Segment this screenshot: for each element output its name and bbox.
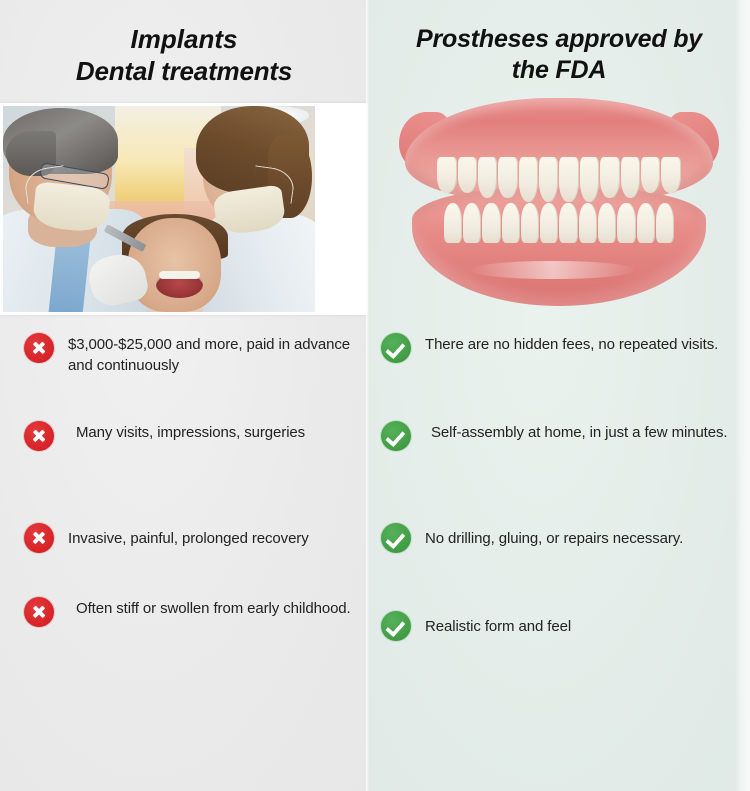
list-item: Realistic form and feel bbox=[381, 597, 740, 655]
tooth bbox=[656, 203, 674, 243]
check-icon bbox=[381, 421, 411, 451]
denture-lower-teeth bbox=[444, 200, 674, 243]
tooth bbox=[437, 157, 456, 193]
cross-icon bbox=[24, 523, 54, 553]
column-implants: Implants Dental treatments bbox=[0, 0, 368, 791]
denture-upper-teeth bbox=[437, 157, 680, 202]
left-column-heading: Implants Dental treatments bbox=[0, 0, 368, 87]
tooth bbox=[521, 203, 539, 243]
tooth bbox=[600, 157, 619, 199]
left-heading-line-1: Implants bbox=[28, 24, 340, 56]
list-item-label: No drilling, gluing, or repairs necessar… bbox=[411, 527, 683, 549]
check-icon bbox=[381, 523, 411, 553]
tooth bbox=[502, 203, 520, 243]
denture-photo bbox=[399, 89, 719, 315]
column-prostheses: Prostheses approved by the FDA bbox=[368, 0, 750, 791]
tooth bbox=[519, 157, 538, 202]
tooth bbox=[458, 157, 477, 193]
right-heading-line-2: the FDA bbox=[406, 55, 712, 86]
tooth bbox=[641, 157, 660, 193]
tooth bbox=[580, 157, 599, 202]
tooth bbox=[444, 203, 462, 243]
list-item-label: There are no hidden fees, no repeated vi… bbox=[411, 333, 718, 355]
list-item: There are no hidden fees, no repeated vi… bbox=[381, 333, 740, 391]
list-item-label: Self-assembly at home, in just a few min… bbox=[411, 421, 727, 443]
list-item-label: Often stiff or swollen from early childh… bbox=[54, 597, 351, 619]
left-heading-line-2: Dental treatments bbox=[28, 56, 340, 88]
right-bullet-list: There are no hidden fees, no repeated vi… bbox=[368, 333, 750, 655]
list-item: Often stiff or swollen from early childh… bbox=[24, 597, 352, 655]
list-item: Self-assembly at home, in just a few min… bbox=[381, 421, 740, 479]
denture-highlight bbox=[469, 261, 635, 279]
tooth bbox=[482, 203, 500, 243]
list-item: No drilling, gluing, or repairs necessar… bbox=[381, 509, 740, 567]
clinic-photo bbox=[3, 106, 315, 312]
list-item: Many visits, impressions, surgeries bbox=[24, 421, 352, 479]
check-icon bbox=[381, 333, 411, 363]
tooth bbox=[498, 157, 517, 199]
cross-icon bbox=[24, 421, 54, 451]
list-item: $3,000-$25,000 and more, paid in advance… bbox=[24, 333, 352, 391]
tooth bbox=[463, 203, 481, 243]
cross-icon bbox=[24, 333, 54, 363]
list-item: Invasive, painful, prolonged recovery bbox=[24, 509, 352, 567]
tooth bbox=[539, 157, 558, 202]
left-bullet-list: $3,000-$25,000 and more, paid in advance… bbox=[0, 333, 368, 655]
right-column-heading: Prostheses approved by the FDA bbox=[368, 0, 750, 85]
tooth bbox=[540, 203, 558, 243]
patient-teeth bbox=[159, 271, 200, 279]
comparison-panel: Implants Dental treatments bbox=[0, 0, 750, 791]
list-item-label: $3,000-$25,000 and more, paid in advance… bbox=[54, 333, 352, 376]
list-item-label: Realistic form and feel bbox=[411, 615, 571, 637]
tooth bbox=[617, 203, 635, 243]
tooth bbox=[661, 157, 680, 193]
tooth bbox=[637, 203, 655, 243]
tooth bbox=[559, 203, 577, 243]
tooth bbox=[598, 203, 616, 243]
list-item-label: Many visits, impressions, surgeries bbox=[54, 421, 305, 443]
clinic-photo-frame bbox=[0, 103, 368, 315]
tooth bbox=[579, 203, 597, 243]
tooth bbox=[621, 157, 640, 199]
cross-icon bbox=[24, 597, 54, 627]
list-item-label: Invasive, painful, prolonged recovery bbox=[54, 527, 309, 549]
tooth bbox=[478, 157, 497, 199]
check-icon bbox=[381, 611, 411, 641]
tooth bbox=[559, 157, 578, 202]
right-heading-line-1: Prostheses approved by bbox=[406, 24, 712, 55]
